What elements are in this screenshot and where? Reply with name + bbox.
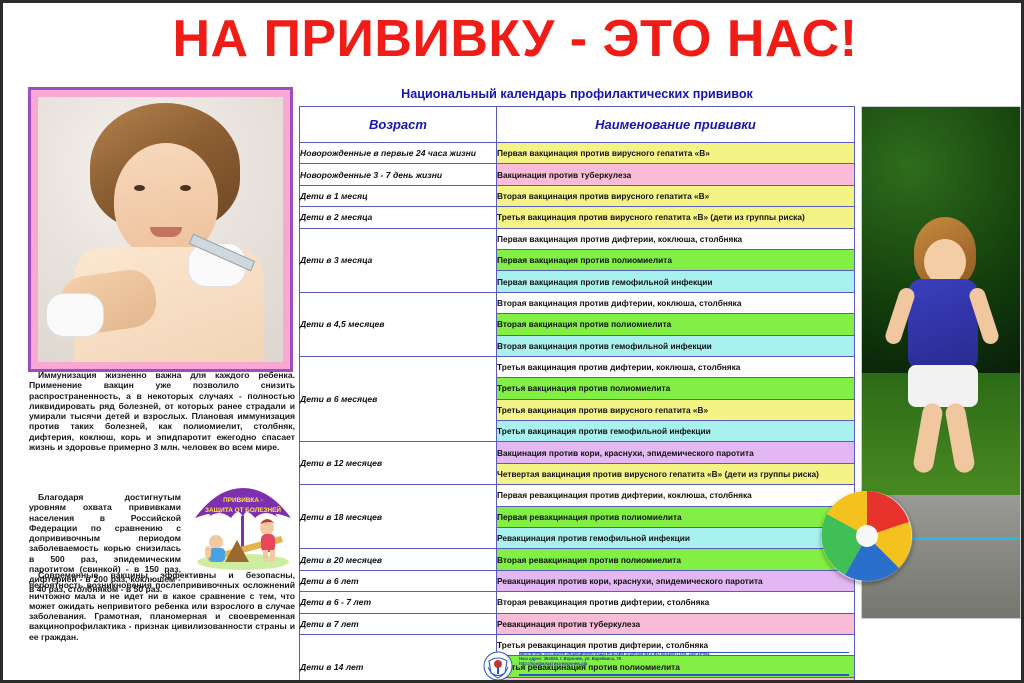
vaccine-cell: Первая ревакцинация против полиомиелита [497,506,855,527]
vaccine-cell: Первая ревакцинация против дифтерии, кок… [497,485,855,506]
vaccine-cell: Ревакцинация против кори, краснухи, эпид… [497,570,855,591]
vaccine-cell: Ревакцинация против туберкулеза [497,613,855,634]
vaccine-cell: Третья вакцинация против вирусного гепат… [497,207,855,228]
girl-shirt [908,279,978,371]
vaccine-cell: Вакцинация против туберкулеза [497,164,855,185]
vaccination-calendar-poster: НА ПРИВИВКУ - ЭТО НАС! Иммунизация жизне… [0,0,1024,683]
table-row: Новорожденные в первые 24 часа жизниПерв… [300,143,855,164]
vaccine-cell: Вторая ревакцинация против полиомиелита [497,549,855,570]
age-cell: Дети в 14 лет [300,634,497,683]
table-row: Дети в 6 - 7 летВторая ревакцинация прот… [300,592,855,613]
vaccine-cell: Вторая ревакцинация против дифтерии, сто… [497,592,855,613]
age-cell: Дети в 18 месяцев [300,485,497,549]
column-header-age: Возраст [300,107,497,143]
article-paragraph-1: Иммунизация жизненно важна для каждого р… [29,370,295,452]
vaccine-cell: Первая вакцинация против дифтерии, коклю… [497,228,855,249]
age-cell: Дети в 6 лет [300,570,497,591]
column-header-vaccine: Наименование прививки [497,107,855,143]
vaccine-cell: Вторая вакцинация против гемофильной инф… [497,335,855,356]
vaccine-cell: Вторая вакцинация против полиомиелита [497,314,855,335]
table-row: Дети в 18 месяцевПервая ревакцинация про… [300,485,855,506]
page-title: НА ПРИВИВКУ - ЭТО НАС! [3,9,1024,69]
footer-rule-blue [519,674,849,676]
vaccine-cell: Первая вакцинация против вирусного гепат… [497,143,855,164]
age-cell: Дети в 1 месяц [300,185,497,206]
age-cell: Дети в 3 месяца [300,228,497,292]
girl-shorts [908,365,978,407]
age-cell: Дети в 4,5 месяцев [300,292,497,356]
vaccination-calendar-table: Возраст Наименование прививки Новорожден… [299,106,855,683]
child-mouth [150,227,182,237]
article-paragraph-3: Современные вакцины эффективны и безопас… [29,570,295,642]
age-cell: Новорожденные 3 - 7 день жизни [300,164,497,185]
vaccine-cell: Первая вакцинация против гемофильной инф… [497,271,855,292]
child-eye-left [134,185,145,191]
table-row: Новорожденные 3 - 7 день жизниВакцинация… [300,164,855,185]
calendar-heading: Национальный календарь профилактических … [299,87,855,101]
footer-rule-red [519,677,849,679]
vaccine-cell: Вторая вакцинация против вирусного гепат… [497,185,855,206]
vaccination-photo-frame [28,87,293,372]
paragraph-1-text: Иммунизация жизненно важна для каждого р… [29,370,295,452]
footer-line-3[interactable]: http://профилактика-воронеж.рф [519,661,849,666]
age-cell: Дети в 6 месяцев [300,356,497,442]
footer-credits: Бюллетень составлен редакционно-издатель… [483,651,855,681]
age-cell: Дети в 12 месяцев [300,442,497,485]
umbrella-line-2: ЗАЩИТА ОТ БОЛЕЗНЕЙ [205,505,281,514]
beach-ball-illustration [821,490,913,582]
vaccine-cell: Третья вакцинация против полиомиелита [497,378,855,399]
table-row: Дети в 1 месяцВторая вакцинация против в… [300,185,855,206]
table-row: Дети в 3 месяцаПервая вакцинация против … [300,228,855,249]
age-cell: Дети в 20 месяцев [300,549,497,570]
nurse-glove-left [46,293,104,337]
table-row: Дети в 2 месяцаТретья вакцинация против … [300,207,855,228]
umbrella-illustration: ПРИВИВКА - ЗАЩИТА ОТ БОЛЕЗНЕЙ [189,484,297,572]
vaccine-cell: Вакцинация против кори, краснухи, эпидем… [497,442,855,463]
umbrella-line-1: ПРИВИВКА - [223,497,263,504]
vaccine-cell: Первая вакцинация против полиомиелита [497,249,855,270]
health-center-emblem-icon [483,651,513,681]
vaccine-cell: Четвертая вакцинация против вирусного ге… [497,463,855,484]
age-cell: Дети в 7 лет [300,613,497,634]
age-cell: Новорожденные в первые 24 часа жизни [300,143,497,164]
vaccine-cell: Третья вакцинация против дифтерии, коклю… [497,356,855,377]
age-cell: Дети в 6 - 7 лет [300,592,497,613]
table-row: Дети в 6 летРевакцинация против кори, кр… [300,570,855,591]
vaccine-cell: Ревакцинация против гемофильной инфекции [497,528,855,549]
footer-text-block: Бюллетень составлен редакционно-издатель… [519,651,849,667]
child-eye-right [180,185,191,191]
table-row: Дети в 20 месяцевВторая ревакцинация про… [300,549,855,570]
table-header-row: Возраст Наименование прививки [300,107,855,143]
vaccine-cell: Третья вакцинация против гемофильной инф… [497,421,855,442]
table-body: Новорожденные в первые 24 часа жизниПерв… [300,143,855,683]
table-row: Дети в 12 месяцевВакцинация против кори,… [300,442,855,463]
table-row: Дети в 7 летРевакцинация против туберкул… [300,613,855,634]
vaccination-photo [38,97,283,362]
paragraph-3-text: Современные вакцины эффективны и безопас… [29,570,295,642]
vaccine-cell: Вторая вакцинация против дифтерии, коклю… [497,292,855,313]
vaccine-cell: Третья вакцинация против вирусного гепат… [497,399,855,420]
age-cell: Дети в 2 месяца [300,207,497,228]
table-row: Дети в 6 месяцевТретья вакцинация против… [300,356,855,377]
table-row: Дети в 4,5 месяцевВторая вакцинация прот… [300,292,855,313]
